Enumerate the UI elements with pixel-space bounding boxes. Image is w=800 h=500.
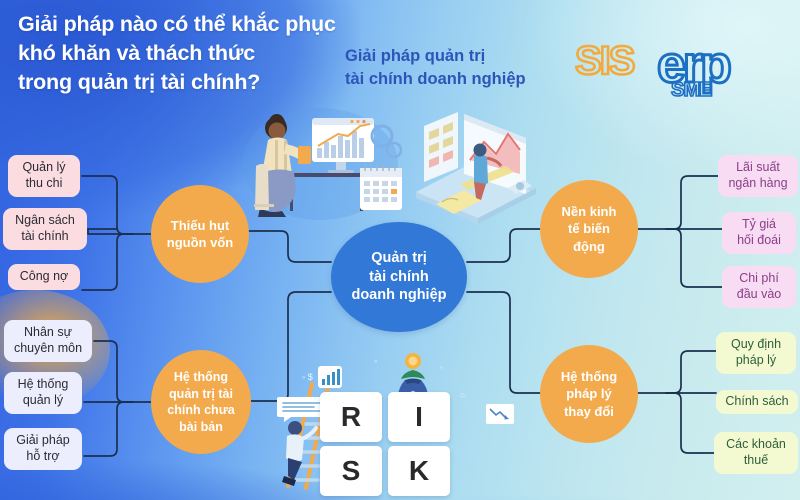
person-at-desk-illustration: [232, 100, 402, 228]
branch-label-line1: Thiếu hụt: [167, 217, 233, 234]
isometric-dashboard-illustration: [402, 100, 552, 226]
center-label-line2: tài chính: [351, 268, 446, 287]
leaf-line2: đầu vào: [737, 287, 781, 303]
branch-node-thieu-hut-nguon-von[interactable]: Thiếu hụt nguồn vốn: [151, 185, 249, 283]
leaf-line2: chuyên môn: [14, 341, 82, 357]
leaf-chip-ngan-sach-tai-chinh[interactable]: Ngân sách tài chính: [3, 208, 87, 250]
infographic-canvas: Giải pháp nào có thể khắc phục khó khăn …: [0, 0, 800, 500]
leaf-line1: Chính sách: [725, 394, 788, 410]
branch-label-line4: bài bản: [167, 419, 234, 436]
leaf-line2: thuế: [726, 453, 786, 469]
branch-node-he-thong-quan-tri[interactable]: Hệ thống quản trị tài chính chưa bài bản: [151, 350, 251, 454]
leaf-line2: ngân hàng: [728, 176, 787, 192]
center-label-line3: doanh nghiệp: [351, 286, 446, 305]
branch-label-line2: quản trị tài: [167, 386, 234, 403]
leaf-line2: thu chi: [22, 176, 65, 192]
branch-label-line3: động: [562, 238, 617, 255]
leaf-line2: tài chính: [15, 229, 75, 245]
logo-sme-text: SME: [671, 79, 712, 101]
page-subtitle: Giải pháp quản trị tài chính doanh nghiệ…: [345, 45, 575, 92]
leaf-line1: Lãi suất: [728, 160, 787, 176]
leaf-line1: Ngân sách: [15, 213, 75, 229]
center-label-line1: Quản trị: [351, 249, 446, 268]
leaf-line2: hỗ trợ: [16, 449, 70, 465]
branch-node-nen-kinh-te[interactable]: Nền kinh tế biến động: [540, 180, 638, 278]
center-node[interactable]: Quản trị tài chính doanh nghiệp: [331, 222, 467, 332]
declining-arrow-icon: [486, 404, 514, 424]
leaf-line1: Nhân sự: [14, 325, 82, 341]
branch-node-he-thong-phap-ly[interactable]: Hệ thống pháp lý thay đổi: [540, 345, 638, 443]
leaf-chip-quan-ly-thu-chi[interactable]: Quản lý thu chi: [8, 155, 80, 197]
page-subtitle-line1: Giải pháp quản trị: [345, 45, 575, 68]
coin-bubble-2: ◦: [374, 356, 377, 366]
leaf-line1: Giải pháp: [16, 433, 70, 449]
leaf-chip-giai-phap-ho-tro[interactable]: Giải pháp hỗ trợ: [4, 428, 82, 470]
coin-bubble-3: ◦: [440, 362, 443, 372]
risk-blocks-illustration: R I S K: [318, 392, 458, 496]
page-title-line1: Giải pháp nào có thể khắc phục: [18, 10, 418, 39]
leaf-line1: Hệ thống: [18, 377, 69, 393]
leaf-chip-lai-suat-ngan-hang[interactable]: Lãi suất ngân hàng: [718, 155, 798, 197]
leaf-chip-chi-phi-dau-vao[interactable]: Chi phí đầu vào: [722, 266, 796, 308]
leaf-chip-chinh-sach[interactable]: Chính sách: [716, 390, 798, 414]
coin-bubble-4: ○: [460, 390, 465, 400]
leaf-line1: Công nợ: [20, 269, 69, 285]
leaf-line2: pháp lý: [731, 353, 781, 369]
branch-label-line2: nguồn vốn: [167, 234, 233, 251]
logo-sis-text: SIS: [575, 40, 635, 83]
leaf-line1: Quản lý: [22, 160, 65, 176]
branch-label-line1: Hệ thống: [561, 368, 617, 385]
leaf-line1: Quy định: [731, 337, 781, 353]
page-subtitle-line2: tài chính doanh nghiệp: [345, 68, 575, 91]
brand-logo: SIS erp SME: [575, 40, 780, 102]
risk-block-i: I: [388, 392, 450, 442]
leaf-chip-cac-khoan-thue[interactable]: Các khoản thuế: [714, 432, 798, 474]
leaf-line2: hối đoái: [737, 233, 781, 249]
risk-block-s: S: [320, 446, 382, 496]
branch-label-line3: thay đổi: [561, 403, 617, 420]
branch-label-line2: pháp lý: [561, 385, 617, 402]
leaf-line1: Tỷ giá: [737, 217, 781, 233]
risk-block-k: K: [388, 446, 450, 496]
bar-chart-icon: [318, 366, 342, 388]
leaf-line1: Các khoản: [726, 437, 786, 453]
branch-label-line1: Hệ thống: [167, 369, 234, 386]
leaf-chip-cong-no[interactable]: Công nợ: [8, 264, 80, 290]
branch-label-line3: chính chưa: [167, 402, 234, 419]
leaf-line1: Chi phí: [737, 271, 781, 287]
leaf-chip-ty-gia-hoi-doai[interactable]: Tỷ giá hối đoái: [722, 212, 796, 254]
branch-label-line1: Nền kinh: [562, 203, 617, 220]
leaf-chip-he-thong-quan-ly[interactable]: Hệ thống quản lý: [4, 372, 82, 414]
leaf-line2: quản lý: [18, 393, 69, 409]
leaf-chip-nhan-su-chuyen-mon[interactable]: Nhân sự chuyên môn: [4, 320, 92, 362]
risk-block-r: R: [320, 392, 382, 442]
branch-label-line2: tế biến: [562, 220, 617, 237]
leaf-chip-quy-dinh-phap-ly[interactable]: Quy định pháp lý: [716, 332, 796, 374]
coin-bubble-1: ◦ $: [302, 372, 313, 382]
